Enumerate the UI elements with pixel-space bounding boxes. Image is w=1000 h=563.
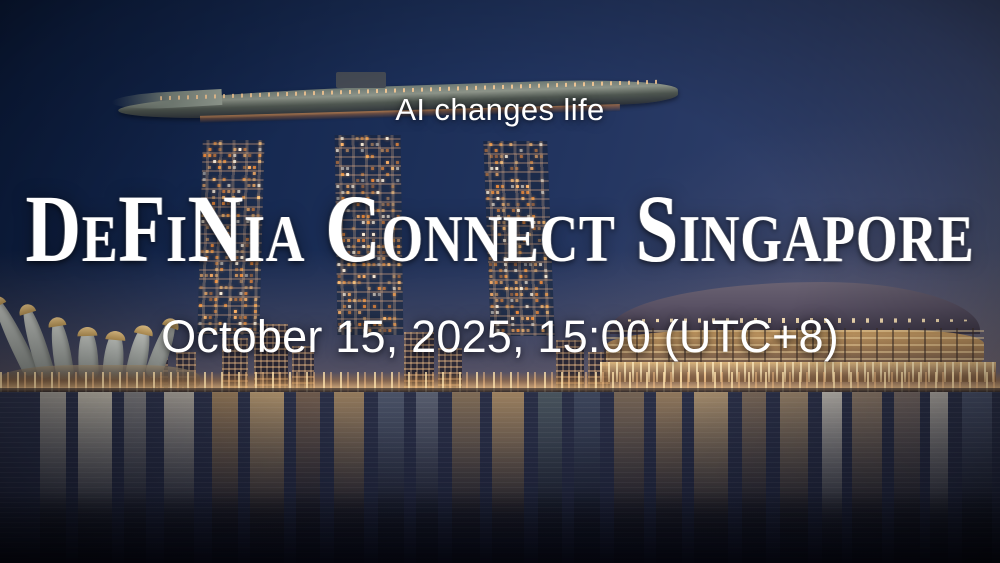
- water-foreground-shadow: [0, 493, 1000, 563]
- dome-roof: [610, 282, 980, 334]
- dome-rim-lights: [614, 318, 976, 323]
- artscience-museum: [0, 272, 210, 387]
- city-skyline: [0, 0, 1000, 400]
- bay-water: [0, 392, 1000, 563]
- dome-columns: [604, 328, 984, 366]
- mbs-skypark-rooftop-box: [336, 72, 386, 88]
- event-banner: AI changes life DeFiNia Connect Singapor…: [0, 0, 1000, 563]
- tower-window-lights: [483, 141, 554, 336]
- tower-window-lights: [335, 135, 404, 335]
- mbs-tower-3: [483, 141, 554, 336]
- mbs-tower-2: [335, 135, 404, 335]
